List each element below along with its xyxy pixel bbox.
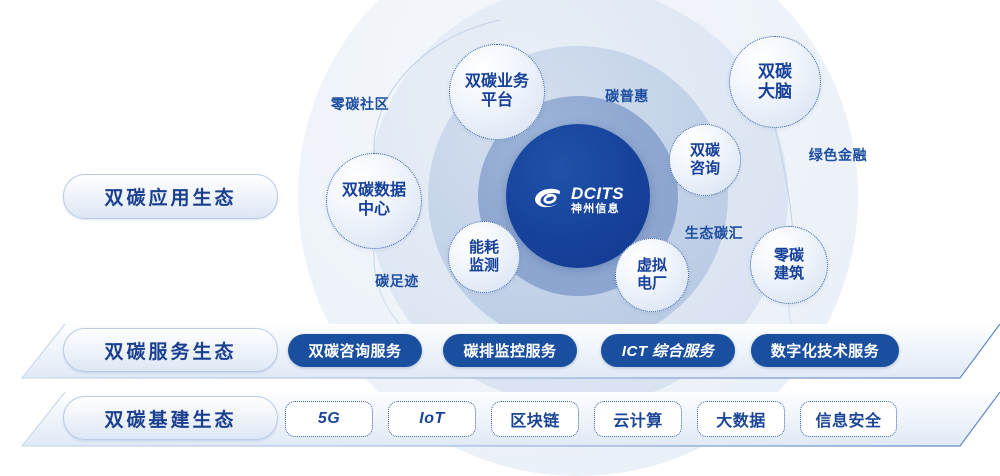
chip-xinxi-anquan[interactable]: 信息安全 <box>800 401 897 437</box>
pill-shuzihua-jishu-fuwu[interactable]: 数字化技术服务 <box>751 334 899 367</box>
bubble-line-1: 双碳 <box>754 62 796 82</box>
bubble-line-2: 平台 <box>461 92 533 111</box>
label-tan-zuji: 碳足迹 <box>375 271 419 291</box>
bubble-line-1: 双碳 <box>686 142 724 160</box>
bubble-line-1: 零碳 <box>770 247 808 265</box>
bubble-xuni-dianchang[interactable]: 虚拟电厂 <box>615 238 689 312</box>
diagram-canvas: 双碳业务平台 双碳数据中心 能耗监测 虚拟电厂 双碳咨询 双碳大脑 零碳建筑 零… <box>0 0 1000 476</box>
dcits-swoosh-icon <box>532 185 566 215</box>
label-lvse-jinrong: 绿色金融 <box>809 145 867 165</box>
bubble-nenghao-jiance[interactable]: 能耗监测 <box>448 221 520 293</box>
service-ecosystem-band: 双碳服务生态 双碳咨询服务 碳排监控服务 ICT 综合服务 数字化技术服务 <box>0 324 1000 380</box>
row-label-application-ecosystem[interactable]: 双碳应用生态 <box>63 174 278 219</box>
infrastructure-ecosystem-band: 双碳基建生态 5G IoT 区块链 云计算 大数据 信息安全 <box>0 392 1000 448</box>
chip-yunjisuan[interactable]: 云计算 <box>594 401 682 437</box>
brand-logo-chinese: 神州信息 <box>571 204 624 215</box>
bubble-line-1: 虚拟 <box>633 257 671 275</box>
bubble-line-1: 能耗 <box>465 239 503 257</box>
row-label-infrastructure-ecosystem[interactable]: 双碳基建生态 <box>63 396 278 440</box>
bubble-shuangtan-danao[interactable]: 双碳大脑 <box>729 36 821 128</box>
chip-iot[interactable]: IoT <box>388 401 476 437</box>
bubble-line-2: 大脑 <box>754 82 796 102</box>
chip-qukuailian[interactable]: 区块链 <box>491 401 579 437</box>
bubble-shuangtan-yewu-pingtai[interactable]: 双碳业务平台 <box>449 44 545 140</box>
chip-dashuju[interactable]: 大数据 <box>697 401 785 437</box>
bubble-line-2: 咨询 <box>686 160 724 178</box>
brand-logo-text: DCITS 神州信息 <box>571 185 624 215</box>
brand-logo: DCITS 神州信息 <box>519 178 637 222</box>
bubble-line-1: 双碳数据 <box>338 182 410 201</box>
chip-5g[interactable]: 5G <box>285 401 373 437</box>
bubble-line-2: 监测 <box>465 257 503 275</box>
bubble-line-2: 中心 <box>338 201 410 220</box>
bubble-line-2: 建筑 <box>770 265 808 283</box>
label-shengtai-tanhui: 生态碳汇 <box>685 223 743 243</box>
label-lingtan-shequ: 零碳社区 <box>331 94 389 114</box>
brand-logo-latin: DCITS <box>571 185 624 202</box>
bubble-shuangtan-shuju-zhongxin[interactable]: 双碳数据中心 <box>326 153 422 249</box>
bubble-line-2: 电厂 <box>633 275 671 293</box>
bubble-shuangtan-zixun[interactable]: 双碳咨询 <box>669 124 741 196</box>
pill-ict-zonghe-fuwu[interactable]: ICT 综合服务 <box>601 334 735 367</box>
pill-shuangtan-zixun-fuwu[interactable]: 双碳咨询服务 <box>288 334 422 367</box>
row-label-service-ecosystem[interactable]: 双碳服务生态 <box>63 328 278 372</box>
bubble-lingtan-jianzhu[interactable]: 零碳建筑 <box>750 226 828 304</box>
label-tan-puhui: 碳普惠 <box>605 86 649 106</box>
pill-tanpai-jiankong-fuwu[interactable]: 碳排监控服务 <box>443 334 577 367</box>
bubble-line-1: 双碳业务 <box>461 73 533 92</box>
